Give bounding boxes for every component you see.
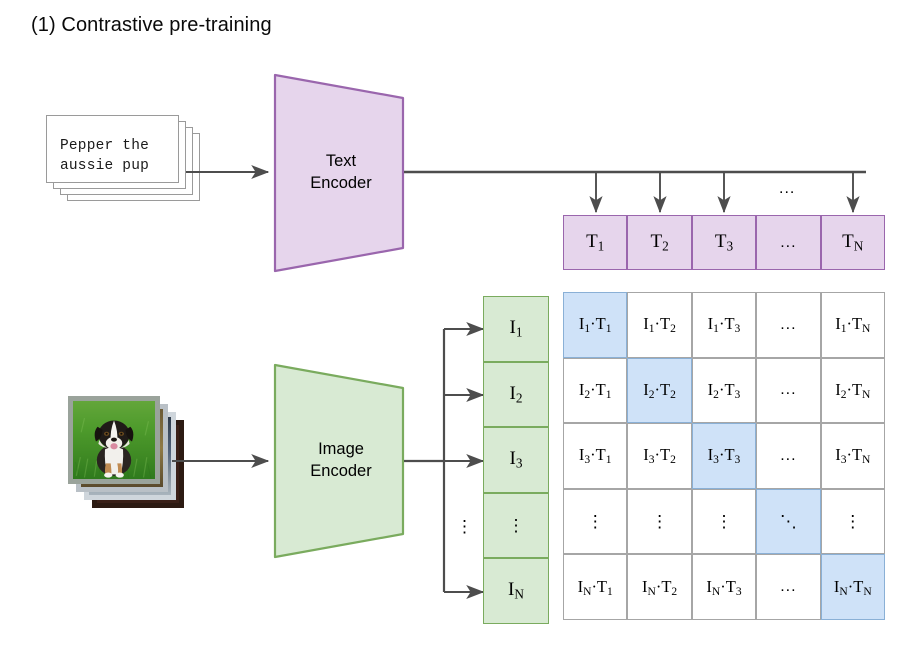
similarity-cell: IN·T3 xyxy=(692,554,756,620)
similarity-label: IN·T2 xyxy=(642,577,677,598)
similarity-label: I3·T1 xyxy=(579,445,612,466)
text-embedding-cell: T3 xyxy=(692,215,756,270)
figure-title: (1) Contrastive pre-training xyxy=(31,14,272,37)
vertical-dots: ⋮ xyxy=(651,513,668,530)
similarity-label: I2·T3 xyxy=(708,380,741,401)
similarity-cell: ⋱ xyxy=(756,489,820,555)
ellipsis: ... xyxy=(780,578,796,596)
image-embedding-label: IN xyxy=(508,579,524,603)
image-encoder-label: Image Encoder xyxy=(281,438,401,482)
similarity-label: IN·T1 xyxy=(578,577,613,598)
similarity-cell: I1·T3 xyxy=(692,292,756,358)
similarity-cell: I1·T2 xyxy=(627,292,691,358)
image-embedding-label: I2 xyxy=(510,383,523,407)
vertical-dots: ⋮ xyxy=(508,517,525,534)
text-card-line-1: Pepper the xyxy=(60,136,170,156)
similarity-cell: I3·T3 xyxy=(692,423,756,489)
similarity-cell: IN·T1 xyxy=(563,554,627,620)
image-encoder-label-line1: Image xyxy=(281,438,401,460)
text-embedding-label: T2 xyxy=(650,231,668,255)
text-embedding-cell: TN xyxy=(821,215,885,270)
similarity-cell: ... xyxy=(756,358,820,424)
image-embedding-cell: IN xyxy=(483,558,549,624)
text-embedding-label: TN xyxy=(842,231,863,255)
similarity-label: IN·T3 xyxy=(706,577,741,598)
image-embedding-label: I1 xyxy=(510,317,523,341)
ellipsis: ... xyxy=(780,381,796,399)
text-embedding-cell: T1 xyxy=(563,215,627,270)
similarity-cell: ... xyxy=(756,292,820,358)
vertical-dots: ⋮ xyxy=(844,513,861,530)
text-bus-ellipsis: ... xyxy=(779,180,795,198)
similarity-cell: IN·T2 xyxy=(627,554,691,620)
text-embedding-cell: T2 xyxy=(627,215,691,270)
image-encoder-label-line2: Encoder xyxy=(281,460,401,482)
similarity-cell: ... xyxy=(756,554,820,620)
puppy-photo-icon xyxy=(73,401,155,479)
text-embedding-label: T3 xyxy=(715,231,733,255)
similarity-label: I2·T2 xyxy=(643,380,676,401)
similarity-cell: I1·TN xyxy=(821,292,885,358)
similarity-cell: ⋮ xyxy=(563,489,627,555)
similarity-cell: I2·T1 xyxy=(563,358,627,424)
similarity-cell: IN·TN xyxy=(821,554,885,620)
similarity-cell: ... xyxy=(756,423,820,489)
text-embedding-label: T1 xyxy=(586,231,604,255)
similarity-label: I2·T1 xyxy=(579,380,612,401)
ellipsis: ... xyxy=(780,234,796,252)
similarity-label: I3·TN xyxy=(835,445,870,466)
text-encoder-label-line1: Text xyxy=(281,150,401,172)
ellipsis: ... xyxy=(780,447,796,465)
similarity-cell: I3·T1 xyxy=(563,423,627,489)
similarity-cell: ⋮ xyxy=(627,489,691,555)
figure-canvas: (1) Contrastive pre-training Pepper the … xyxy=(0,0,906,654)
similarity-cell: ⋮ xyxy=(692,489,756,555)
text-embedding-cell: ... xyxy=(756,215,820,270)
similarity-label: I1·T3 xyxy=(708,314,741,335)
diagonal-dots: ⋱ xyxy=(780,513,797,530)
similarity-label: I1·TN xyxy=(835,314,870,335)
similarity-cell: I1·T1 xyxy=(563,292,627,358)
image-embedding-cell: ⋮ xyxy=(483,493,549,559)
similarity-label: I1·T2 xyxy=(643,314,676,335)
vertical-dots: ⋮ xyxy=(715,513,732,530)
similarity-cell: ⋮ xyxy=(821,489,885,555)
image-embedding-cell: I2 xyxy=(483,362,549,428)
similarity-cell: I2·T2 xyxy=(627,358,691,424)
similarity-cell: I2·T3 xyxy=(692,358,756,424)
image-embedding-cell: I3 xyxy=(483,427,549,493)
similarity-label: I3·T3 xyxy=(708,445,741,466)
ellipsis: ... xyxy=(780,316,796,334)
image-thumb-front xyxy=(68,396,160,484)
similarity-label: I3·T2 xyxy=(643,445,676,466)
text-encoder-label: Text Encoder xyxy=(281,150,401,194)
image-embedding-label: I3 xyxy=(510,448,523,472)
vertical-dots: ⋮ xyxy=(587,513,604,530)
image-bus-vertical-dots: ⋮ xyxy=(456,518,473,535)
similarity-cell: I3·T2 xyxy=(627,423,691,489)
text-card-line-2: aussie pup xyxy=(60,156,170,176)
similarity-label: I2·TN xyxy=(835,380,870,401)
similarity-cell: I3·TN xyxy=(821,423,885,489)
similarity-cell: I2·TN xyxy=(821,358,885,424)
image-embedding-cell: I1 xyxy=(483,296,549,362)
text-encoder-label-line2: Encoder xyxy=(281,172,401,194)
similarity-label: IN·TN xyxy=(834,577,872,598)
similarity-label: I1·T1 xyxy=(579,314,612,335)
text-card-content: Pepper the aussie pup xyxy=(60,136,170,176)
